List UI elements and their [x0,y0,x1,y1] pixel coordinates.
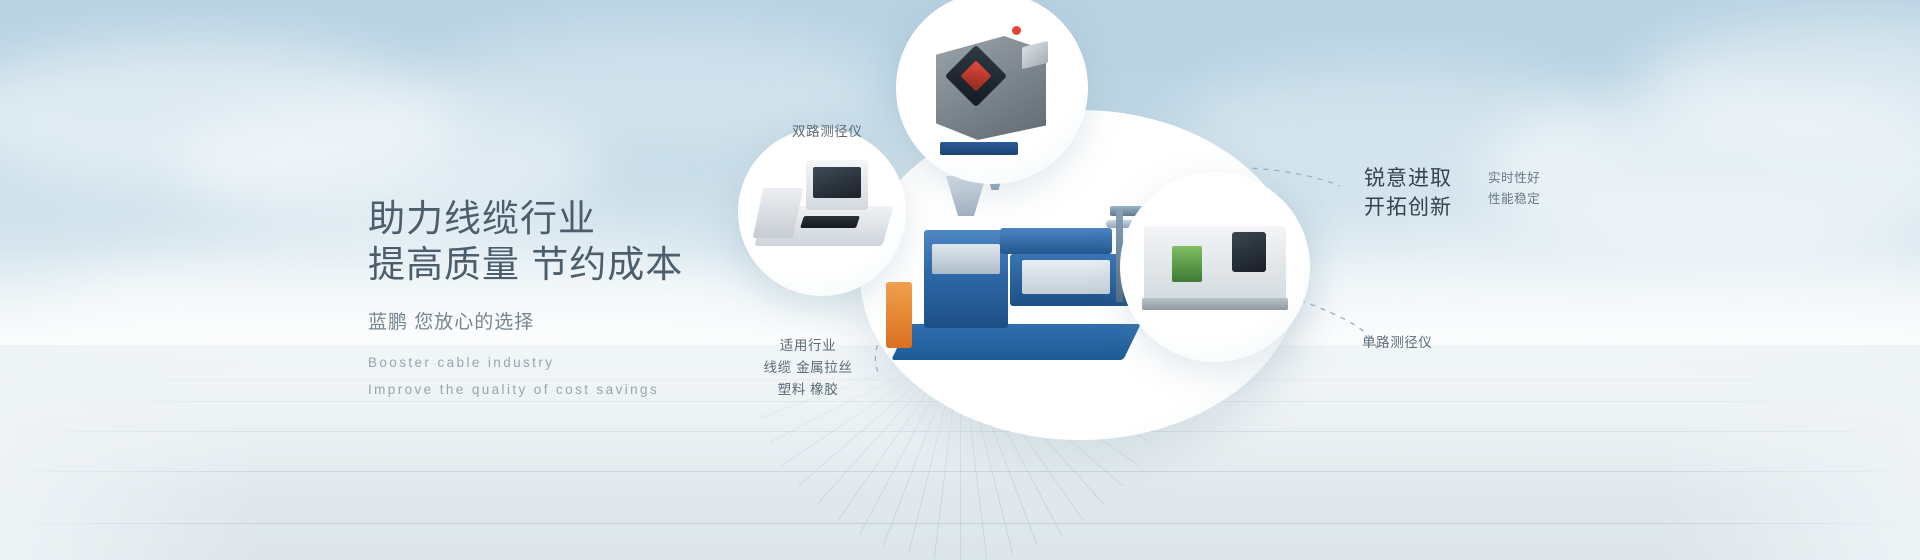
machine-floor-plate [891,324,1141,360]
gauge-base [1142,298,1288,310]
hero-banner: 助力线缆行业 提高质量 节约成本 蓝鹏 您放心的选择 Booster cable… [0,0,1920,560]
label-single-gauge: 单路测径仪 [1362,333,1433,353]
label-dual-gauge: 双路测径仪 [792,122,863,142]
feature-line-2: 性能稳定 [1488,189,1598,210]
slogan-line-2: 开拓创新 [1364,193,1494,222]
machine-orange-column [886,282,912,348]
feature-block: 实时性好 性能稳定 [1488,168,1598,210]
floor-edge-left [0,345,260,560]
label-industry-block: 适用行业 线缆 金属拉丝 塑料 橡胶 [728,335,888,401]
slogan-line-1: 锐意进取 [1364,164,1494,193]
slogan-block: 锐意进取 开拓创新 [1364,164,1494,222]
brand-plate [940,142,1018,155]
control-desk-bubble [738,128,906,296]
industry-title: 适用行业 [728,335,888,357]
dual-gauge-bubble [896,0,1088,184]
single-gauge-bubble [1120,172,1310,362]
monitor [806,160,868,210]
keyboard [800,216,860,228]
industry-line-1: 线缆 金属拉丝 [728,357,888,379]
control-panel [1022,260,1110,294]
gauge-status-led [1012,26,1021,35]
extruder-body [924,230,1008,328]
product-collage: 双路测径仪 单路测径仪 适用行业 线缆 金属拉丝 塑料 橡胶 锐意进取 开拓创新… [700,0,1920,560]
feature-line-1: 实时性好 [1488,168,1598,189]
gauge-green-module [1172,246,1202,282]
industry-line-2: 塑料 橡胶 [728,379,888,401]
extruder-barrel [1000,228,1112,254]
gauge-display-screen [1232,232,1266,272]
